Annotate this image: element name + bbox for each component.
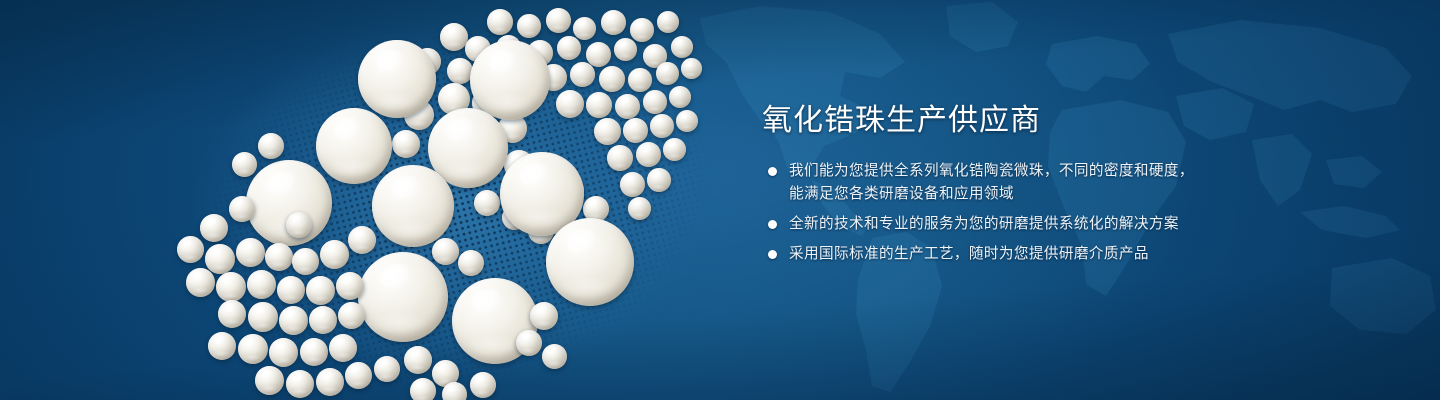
list-item-text: 我们能为您提供全系列氧化锆陶瓷微珠，不同的密度和硬度， 能满足您各类研磨设备和应… bbox=[789, 160, 1322, 206]
list-item-text: 全新的技术和专业的服务为您的研磨提供系统化的解决方案 bbox=[789, 213, 1322, 236]
feature-bullet-list: 我们能为您提供全系列氧化锆陶瓷微珠，不同的密度和硬度， 能满足您各类研磨设备和应… bbox=[762, 160, 1322, 266]
list-item: 全新的技术和专业的服务为您的研磨提供系统化的解决方案 bbox=[762, 213, 1322, 236]
page-title: 氧化锆珠生产供应商 bbox=[762, 104, 1322, 138]
list-item-line: 能满足您各类研磨设备和应用领域 bbox=[789, 183, 1322, 206]
bullet-dot-icon bbox=[768, 250, 777, 259]
list-item-line: 采用国际标准的生产工艺，随时为您提供研磨介质产品 bbox=[789, 243, 1322, 266]
list-item-line: 我们能为您提供全系列氧化锆陶瓷微珠，不同的密度和硬度， bbox=[789, 160, 1322, 183]
list-item-line: 全新的技术和专业的服务为您的研磨提供系统化的解决方案 bbox=[789, 213, 1322, 236]
hero-banner: 氧化锆珠生产供应商 我们能为您提供全系列氧化锆陶瓷微珠，不同的密度和硬度， 能满… bbox=[0, 0, 1440, 400]
list-item: 采用国际标准的生产工艺，随时为您提供研磨介质产品 bbox=[762, 243, 1322, 266]
list-item-text: 采用国际标准的生产工艺，随时为您提供研磨介质产品 bbox=[789, 243, 1322, 266]
bullet-dot-icon bbox=[768, 220, 777, 229]
bullet-dot-icon bbox=[768, 167, 777, 176]
list-item: 我们能为您提供全系列氧化锆陶瓷微珠，不同的密度和硬度， 能满足您各类研磨设备和应… bbox=[762, 160, 1322, 206]
banner-text-block: 氧化锆珠生产供应商 我们能为您提供全系列氧化锆陶瓷微珠，不同的密度和硬度， 能满… bbox=[762, 104, 1322, 266]
